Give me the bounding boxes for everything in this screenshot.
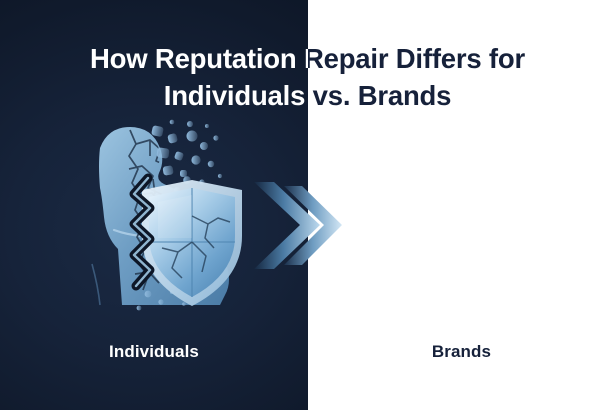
dissolving-human-silhouette-illustration (44, 118, 254, 318)
caption-brands: Brands (308, 342, 615, 362)
double-chevron-right-arrow (250, 178, 350, 273)
caption-individuals: Individuals (0, 342, 308, 362)
infographic-canvas: How Reputation Repair Differs for Indivi… (0, 0, 615, 410)
